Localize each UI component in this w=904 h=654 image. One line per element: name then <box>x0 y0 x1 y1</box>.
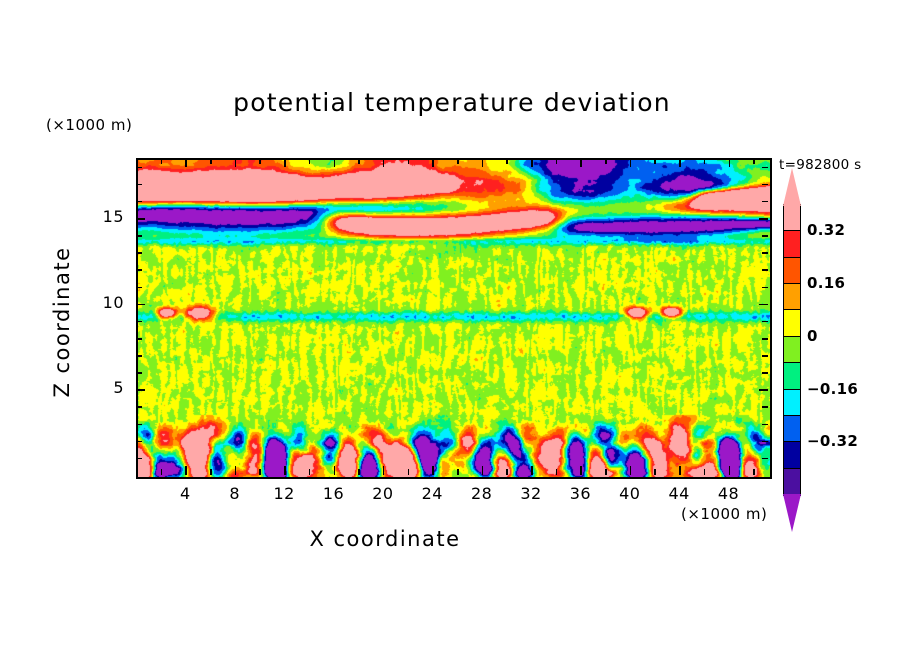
x-tick <box>729 466 731 475</box>
colorbar-band <box>783 389 801 417</box>
y-tick <box>762 458 768 460</box>
y-tick <box>759 218 768 220</box>
x-tick-label: 20 <box>363 484 403 503</box>
y-tick <box>136 321 142 323</box>
contour-plot-area <box>136 158 772 479</box>
y-tick <box>762 338 768 340</box>
x-tick <box>729 158 731 167</box>
y-tick <box>136 338 142 340</box>
colorbar-tick-label: −0.32 <box>807 432 858 450</box>
x-tick <box>383 466 385 475</box>
colorbar-band <box>783 230 801 258</box>
y-tick <box>136 201 142 203</box>
x-tick <box>679 466 681 475</box>
x-tick <box>185 466 187 475</box>
y-tick <box>136 269 142 271</box>
y-tick-label: 5 <box>84 378 124 397</box>
contour-field <box>138 160 770 477</box>
x-tick-label: 48 <box>709 484 749 503</box>
x-tick <box>630 158 632 167</box>
x-tick <box>753 158 755 164</box>
y-tick <box>136 304 145 306</box>
y-axis-title: Z coordinate <box>50 222 74 422</box>
x-tick-label: 16 <box>314 484 354 503</box>
colorbar-band <box>783 204 801 232</box>
colorbar-band <box>783 257 801 285</box>
y-tick <box>136 287 142 289</box>
x-tick <box>605 469 607 475</box>
y-tick <box>762 355 768 357</box>
x-tick <box>654 158 656 164</box>
x-tick <box>432 466 434 475</box>
x-tick <box>556 158 558 164</box>
page-title: potential temperature deviation <box>0 88 904 117</box>
x-tick <box>482 158 484 167</box>
y-tick <box>762 235 768 237</box>
y-tick <box>136 372 142 374</box>
y-axis-unit-label: (×1000 m) <box>46 116 132 134</box>
x-tick <box>309 158 311 164</box>
x-tick <box>185 158 187 167</box>
x-tick <box>309 469 311 475</box>
x-tick <box>210 469 212 475</box>
x-tick <box>482 466 484 475</box>
colorbar-tick-label: 0.16 <box>807 274 845 292</box>
x-tick <box>704 469 706 475</box>
y-tick <box>136 252 142 254</box>
x-tick <box>408 158 410 164</box>
figure-canvas: potential temperature deviation (×1000 m… <box>0 0 904 654</box>
x-tick <box>161 158 163 164</box>
x-tick <box>580 158 582 167</box>
x-tick <box>630 466 632 475</box>
y-tick-label: 15 <box>84 207 124 226</box>
y-tick <box>762 406 768 408</box>
x-tick <box>284 158 286 167</box>
x-tick <box>457 158 459 164</box>
y-tick <box>759 304 768 306</box>
x-tick <box>358 469 360 475</box>
x-tick <box>210 158 212 164</box>
x-tick-label: 28 <box>462 484 502 503</box>
x-tick <box>161 469 163 475</box>
colorbar-band <box>783 415 801 443</box>
y-tick <box>762 372 768 374</box>
y-tick <box>762 269 768 271</box>
x-tick-label: 32 <box>511 484 551 503</box>
x-tick-label: 8 <box>215 484 255 503</box>
y-tick <box>136 235 142 237</box>
x-tick <box>383 158 385 167</box>
colorbar-band <box>783 309 801 337</box>
x-tick <box>457 469 459 475</box>
x-axis-unit-label: (×1000 m) <box>681 505 767 523</box>
x-tick <box>358 158 360 164</box>
x-tick-label: 44 <box>659 484 699 503</box>
x-tick-label: 24 <box>412 484 452 503</box>
x-tick <box>556 469 558 475</box>
colorbar-cap-top <box>783 168 801 206</box>
y-tick <box>136 389 145 391</box>
x-tick <box>679 158 681 167</box>
y-tick <box>762 201 768 203</box>
colorbar-tick-label: −0.16 <box>807 380 858 398</box>
y-tick <box>136 458 142 460</box>
x-tick <box>605 158 607 164</box>
x-tick <box>704 158 706 164</box>
x-axis-title: X coordinate <box>0 527 770 551</box>
y-tick <box>136 184 142 186</box>
x-tick <box>753 469 755 475</box>
colorbar-band <box>783 283 801 311</box>
y-tick <box>762 424 768 426</box>
y-tick <box>136 218 145 220</box>
x-tick <box>408 469 410 475</box>
x-tick <box>506 158 508 164</box>
y-tick <box>136 167 142 169</box>
y-tick <box>762 441 768 443</box>
x-tick <box>580 466 582 475</box>
x-tick <box>506 469 508 475</box>
colorbar-band <box>783 468 801 496</box>
y-tick <box>762 184 768 186</box>
colorbar-cap-bottom <box>783 494 801 532</box>
colorbar-tick-label: 0.32 <box>807 221 845 239</box>
x-tick <box>531 466 533 475</box>
x-tick <box>235 158 237 167</box>
y-tick <box>762 287 768 289</box>
x-tick-label: 12 <box>264 484 304 503</box>
y-tick <box>136 424 142 426</box>
y-tick <box>762 321 768 323</box>
colorbar-tick-label: 0 <box>807 327 818 345</box>
colorbar <box>783 204 801 494</box>
x-tick <box>259 158 261 164</box>
colorbar-band <box>783 336 801 364</box>
x-tick <box>531 158 533 167</box>
x-tick <box>654 469 656 475</box>
y-tick <box>136 441 142 443</box>
y-tick <box>136 406 142 408</box>
colorbar-band <box>783 362 801 390</box>
y-tick <box>762 252 768 254</box>
y-tick <box>762 167 768 169</box>
y-tick-label: 10 <box>84 293 124 312</box>
x-tick <box>334 158 336 167</box>
x-tick-label: 36 <box>560 484 600 503</box>
x-tick-label: 4 <box>165 484 205 503</box>
x-tick <box>432 158 434 167</box>
y-tick <box>759 389 768 391</box>
x-tick <box>284 466 286 475</box>
colorbar-band <box>783 441 801 469</box>
x-tick <box>259 469 261 475</box>
x-tick <box>334 466 336 475</box>
x-tick-label: 40 <box>610 484 650 503</box>
x-tick <box>235 466 237 475</box>
y-tick <box>136 355 142 357</box>
